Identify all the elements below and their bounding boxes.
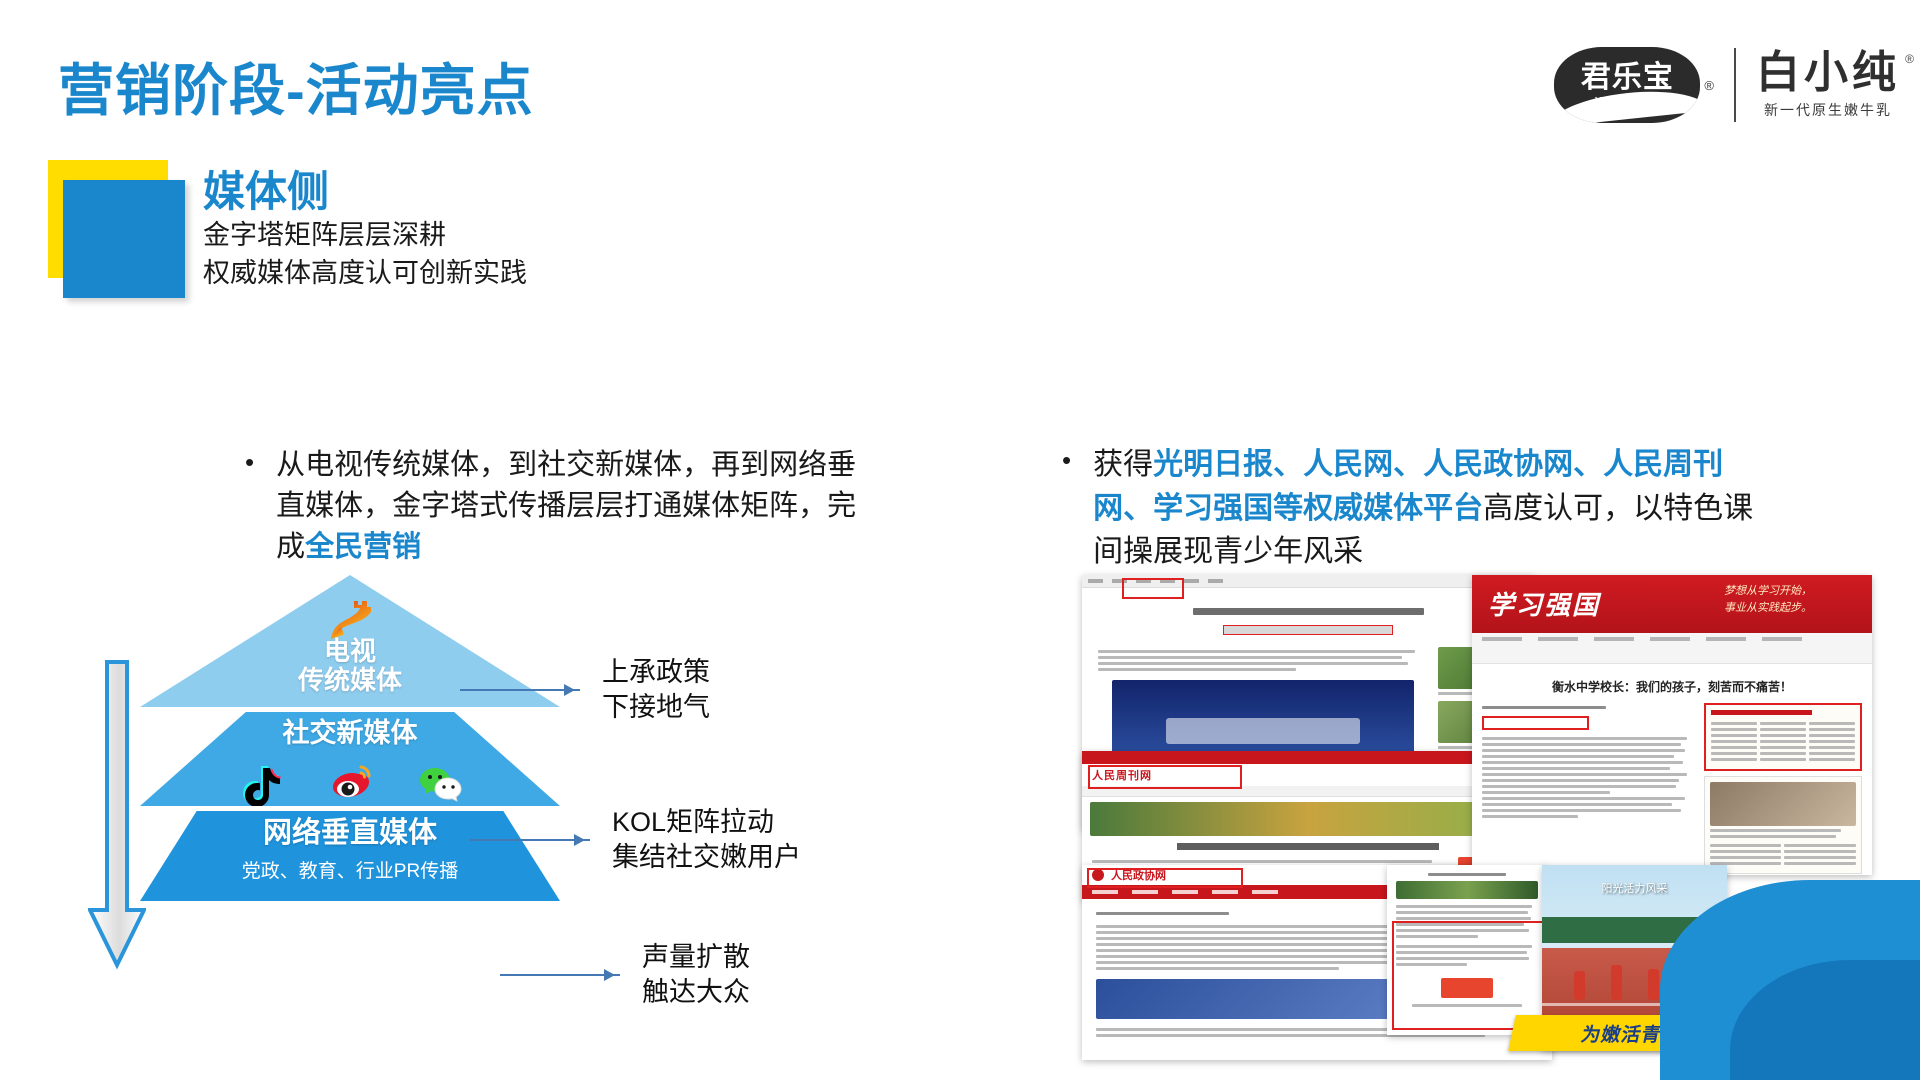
pyramid-annotation-2: KOL矩阵拉动 集结社交嫩用户 [470,805,801,875]
bullet-right-text: 获得光明日报、人民网、人民政协网、人民周刊网、学习强国等权威媒体平台高度认可，以… [1093,443,1762,574]
junlebao-logo: 君乐宝 JUNLEBAO ® [1554,47,1714,123]
annotation-arrow-icon [460,689,580,691]
highlight-box [1087,868,1243,888]
page-title: 营销阶段-活动亮点 [58,46,534,127]
pyramid-annotation-1: 上承政策 下接地气 [460,655,710,725]
section-title: 媒体侧 [203,168,527,215]
section-header: 媒体侧 金字塔矩阵层层深耕 权威媒体高度认可创新实践 [48,160,948,310]
screenshot-xuexi-qiangguo: 学习强国 梦想从学习开始， 事业从实践起步。 衡水中学校长：我们的孩子，刻苦而不… [1472,575,1872,875]
down-arrow-icon [88,660,146,970]
bullet-left-highlight: 全民营销 [305,531,421,563]
highlight-box [1122,578,1184,599]
bullet-right-text-part1: 获得 [1093,448,1153,481]
slide-root: 营销阶段-活动亮点 君乐宝 JUNLEBAO ® 白小纯 ® 新一代原生嫩牛乳 … [0,0,1920,1080]
baixiaochun-cn-text: 白小纯 [1756,50,1900,96]
weibo-icon [327,760,373,806]
douyin-icon [237,760,283,806]
brand-logo-bar: 君乐宝 JUNLEBAO ® 白小纯 ® 新一代原生嫩牛乳 [1554,42,1900,128]
blue-accent-square [63,180,185,298]
junlebao-registered-mark: ® [1704,78,1714,93]
junlebao-cn-text: 君乐宝 [1581,63,1674,93]
section-subtitle-line1: 金字塔矩阵层层深耕 [203,217,527,253]
baixiaochun-registered-mark: ® [1905,52,1914,66]
video-1-caption: 阳光活力风采 [1542,880,1727,896]
xuexi-header: 学习强国 梦想从学习开始， 事业从实践起步。 [1472,575,1872,633]
pyramid-tier-social: 社交新媒体 [140,712,560,806]
logo-divider [1734,48,1736,122]
junlebao-en-text: JUNLEBAO [1594,96,1662,107]
baixiaochun-tagline: 新一代原生嫩牛乳 [1764,100,1892,120]
xuexi-nav [1472,633,1872,664]
bullet-left: • 从电视传统媒体，到社交新媒体，再到网络垂直媒体，金字塔式传播层层打通媒体矩阵… [245,445,885,569]
screenshot-newspaper-clipping [1387,865,1547,1035]
pyramid-annotation-3: 声量扩散 触达大众 [500,940,750,1010]
section-text: 媒体侧 金字塔矩阵层层深耕 权威媒体高度认可创新实践 [203,168,527,292]
xuexi-headline: 衡水中学校长：我们的孩子，刻苦而不痛苦！ [1480,678,1864,695]
bullet-left-text: 从电视传统媒体，到社交新媒体，再到网络垂直媒体，金字塔式传播层层打通媒体矩阵，完… [276,445,885,569]
bullet-marker: • [245,445,254,480]
xuexi-logo: 学习强国 [1488,585,1600,622]
bullet-right: • 获得光明日报、人民网、人民政协网、人民周刊网、学习强国等权威媒体平台高度认可… [1062,443,1762,574]
annotation-arrow-icon [470,839,590,841]
annotation-3-text: 声量扩散 触达大众 [642,940,750,1010]
xuexi-slogan: 梦想从学习开始， 事业从实践起步。 [1724,583,1812,616]
annotation-2-text: KOL矩阵拉动 集结社交嫩用户 [612,805,801,875]
junlebao-mark: 君乐宝 JUNLEBAO [1554,47,1700,123]
annotation-arrow-icon [500,974,620,976]
baixiaochun-logo: 白小纯 ® 新一代原生嫩牛乳 [1756,50,1900,120]
bullet-marker: • [1062,443,1071,478]
annotation-1-text: 上承政策 下接地气 [602,655,710,725]
section-subtitle-line2: 权威媒体高度认可创新实践 [203,255,527,291]
highlight-box [1392,921,1546,1030]
highlight-box [1088,765,1242,789]
wechat-icon [417,760,463,806]
